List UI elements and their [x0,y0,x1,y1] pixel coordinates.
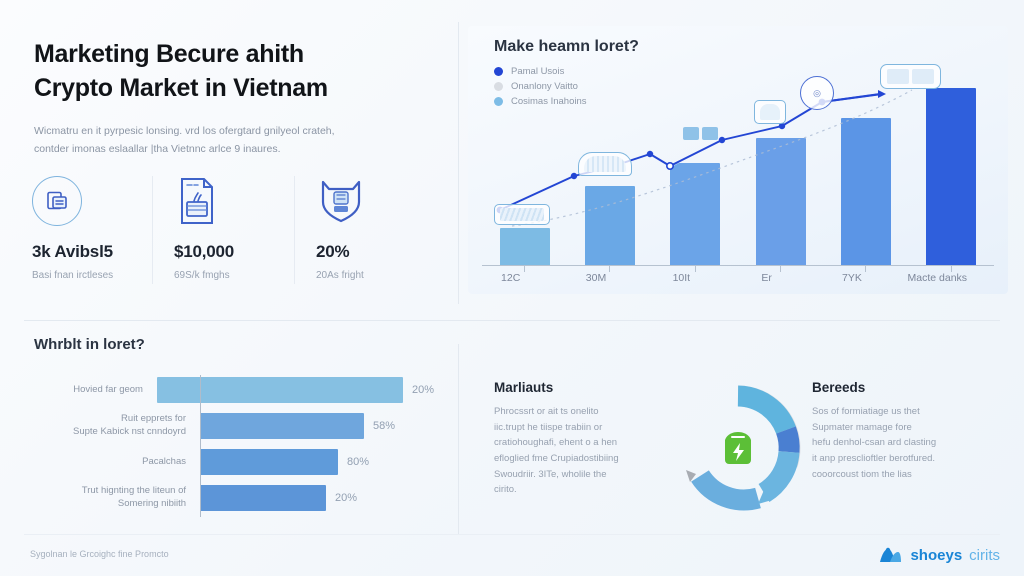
stat-label-3: 20As fright [316,270,426,281]
donut-arc-midblue [764,452,789,493]
bar-slot-1 [567,186,652,266]
stat-icon-wrap-2 [174,172,284,230]
badge-cell-e [760,104,780,120]
bar-badge-3 [678,124,723,143]
hbar-axis-line [200,375,201,517]
stat-card-3: 20% 20As fright [294,172,436,281]
tb2-line-0: Sos of formiatiage us thet [812,404,987,420]
hbar-fill-2 [200,449,338,475]
round-badge: ◎ [800,76,834,110]
x-label-1: 30M [553,272,638,284]
brand-sub: cirits [969,547,1000,564]
text-block-2-body: Sos of formiatiage us thet Supmater mama… [812,404,987,482]
tb2-line-2: hefu denhol-csan ard clasting [812,435,987,451]
donut-arc-blue [700,476,758,500]
bar-3 [756,138,806,266]
bar-slot-5 [909,88,994,266]
stat-icon-wrap-3 [316,172,426,230]
bar-2 [670,163,720,266]
hbar-label-1-line2: Supte Kabick nst cnndoyrd [34,426,186,439]
tb2-line-3: it anp presclioftler berotfured. [812,451,987,467]
horizontal-divider [24,320,1000,321]
page-title-line1: Marketing Becure ahith [34,38,434,72]
hbar-label-1: Ruit epprets for Supte Kabick nst cnndoy… [34,413,194,439]
page-subtitle: Wicmatru en it pyrpesic lonsing. vrd los… [34,122,434,159]
bar-chart-plot: ◎ [482,54,994,266]
x-label-4: 7YK [809,272,894,284]
page-subtitle-line1: Wicmatru en it pyrpesic lonsing. vrd los… [34,122,434,140]
tb2-line-1: Supmater mamage fore [812,420,987,436]
x-axis-labels: 12C 30M 10It Er 7YK Macte danks [468,272,980,284]
hbar-track-2: 80% [194,449,434,475]
badge-cell-a [500,208,544,221]
callout-cell-1 [887,69,909,84]
stat-value-1: 3k Avibsl5 [32,242,142,262]
tb1-line-2: cratiohoughafi, ehent o a hen [494,435,669,451]
bar-chart-panel: Make heamn loret? Pamal Usois Onanlony V… [468,26,1008,294]
page-title-line2: Crypto Market in Vietnam [34,72,434,106]
tb2-line-4: cooorcoust tiom the lias [812,467,987,483]
hbar-row-3: Trut hignting the liteun of Somering nib… [34,483,434,513]
bar-1 [585,186,635,266]
bar-series [482,80,994,266]
stat-icon-wrap-1 [32,172,142,230]
stat-value-3: 20% [316,242,426,262]
hbar-track-0: 20% [151,377,434,403]
donut-arc-darkblue [786,430,789,452]
hbar-pct-0: 20% [412,384,434,396]
bar-badge-1 [494,204,550,225]
hbar-pct-1: 58% [373,420,395,432]
bar-slot-3 [738,138,823,266]
tooltip-callout [880,64,941,89]
card-stack-circle-icon [32,176,82,226]
hbar-label-0: Hovied far geom [34,384,151,397]
x-label-2: 10It [639,272,724,284]
text-block-bereeds: Bereeds Sos of formiatiage us thet Supma… [812,380,987,482]
badge-cell-b [584,156,626,172]
hbar-label-2-line1: Pacalchas [34,456,186,469]
hbar-fill-0 [157,377,403,403]
hbar-label-1-line1: Ruit epprets for [34,413,186,426]
tb1-line-5: cirito. [494,482,669,498]
green-battery-bolt-icon [721,430,755,466]
tb1-line-3: efloglied fme Crupiadostibiing [494,451,669,467]
horizontal-bar-rows: Hovied far geom 20% Ruit epprets for Sup… [34,375,434,513]
vertical-divider-bottom [458,344,459,534]
donut-chart [668,378,808,518]
hbar-label-0-line1: Hovied far geom [34,384,143,397]
x-label-5: Macte danks [895,272,980,284]
brand-logo: shoeys cirits [877,545,1000,565]
stats-row: 3k Avibsl5 Basi fnan irctleses $10,000 6… [32,172,436,281]
horizontal-bar-title: Whrblt in loret? [34,336,434,353]
vertical-divider-top [458,22,459,304]
page-subtitle-line2: contder imonas eslaallar |tha Vietnnc ar… [34,140,434,158]
x-label-3: Er [724,272,809,284]
tb1-line-4: Swoudriir. 3ITe, wholile the [494,467,669,483]
stat-label-1: Basi fnan irctleses [32,270,142,281]
hbar-label-3: Trut hignting the liteun of Somering nib… [34,485,194,511]
infographic-page: Marketing Becure ahith Crypto Market in … [0,0,1024,576]
tb1-line-1: iic.trupt he tiispe trabiin or [494,420,669,436]
document-stack-icon [174,176,220,226]
stat-card-2: $10,000 69S/k fmghs [152,172,294,281]
hero-section: Marketing Becure ahith Crypto Market in … [34,38,434,159]
text-block-2-heading: Bereeds [812,380,987,395]
page-title: Marketing Becure ahith Crypto Market in … [34,38,434,105]
hbar-row-0: Hovied far geom 20% [34,375,434,405]
hbar-track-1: 58% [194,413,434,439]
badge-cell-c [683,127,699,140]
hbar-row-1: Ruit epprets for Supte Kabick nst cnndoy… [34,411,434,441]
hbar-fill-3 [200,485,326,511]
x-label-0: 12C [468,272,553,284]
hbar-row-2: Pacalchas 80% [34,447,434,477]
round-badge-label: ◎ [813,88,821,99]
text-block-1-heading: Marliauts [494,380,669,395]
stat-value-2: $10,000 [174,242,284,262]
badge-cell-d [702,127,718,140]
text-block-1-body: Phrocssrt or ait ts onelito iic.trupt he… [494,404,669,498]
text-block-marliauts: Marliauts Phrocssrt or ait ts onelito ii… [494,380,669,498]
mountain-bird-logo-icon [877,545,903,565]
hbar-label-3-line1: Trut hignting the liteun of [34,485,186,498]
hbar-track-3: 20% [194,485,434,511]
stat-card-1: 3k Avibsl5 Basi fnan irctleses [32,172,152,281]
bar-slot-0 [482,228,567,266]
hbar-label-2: Pacalchas [34,456,194,469]
footer-note: Sygolnan le Grcoighc fine Promcto [30,549,169,559]
hbar-label-3-line2: Somering nibiith [34,498,186,511]
bar-badge-4 [754,100,786,124]
bar-4 [841,118,891,266]
bar-5 [926,88,976,266]
bar-0 [500,228,550,266]
shield-badge-icon [316,176,366,226]
footer-divider [24,534,1000,535]
hbar-pct-3: 20% [335,492,357,504]
hbar-pct-2: 80% [347,456,369,468]
bar-slot-2 [653,163,738,266]
bar-slot-4 [823,118,908,266]
callout-cell-2 [912,69,934,84]
brand-name: shoeys [910,547,962,564]
stat-label-2: 69S/k fmghs [174,270,284,281]
bar-badge-2 [578,152,632,176]
horizontal-bar-section: Whrblt in loret? Hovied far geom 20% Rui… [34,336,434,519]
hbar-fill-1 [200,413,364,439]
tb1-line-0: Phrocssrt or ait ts onelito [494,404,669,420]
